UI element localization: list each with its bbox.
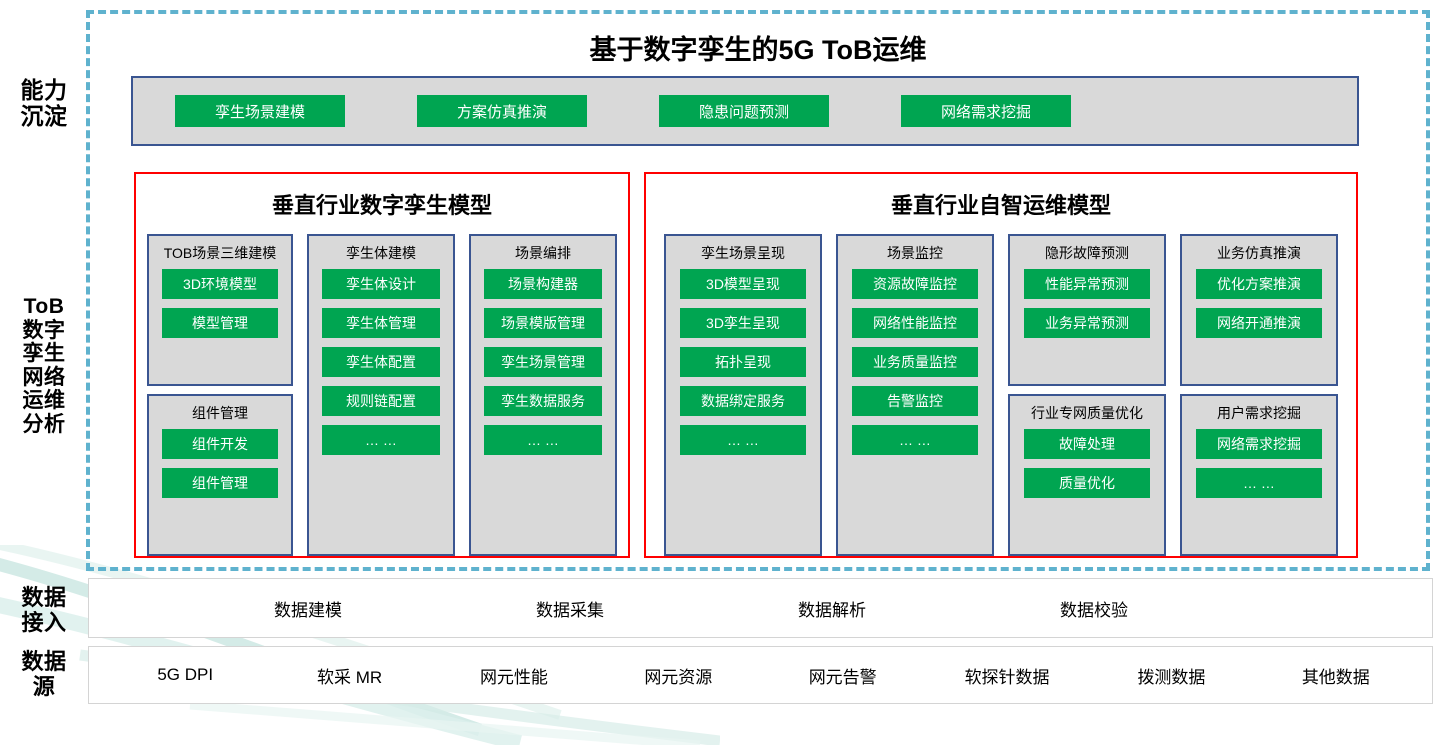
capability-item-chip[interactable]: 3D环境模型 [162,269,278,299]
capability-item-chip[interactable]: 性能异常预测 [1024,269,1150,299]
capability-chip[interactable]: 隐患问题预测 [659,95,829,127]
capability-panel: 业务仿真推演优化方案推演网络开通推演 [1180,234,1338,386]
rail-label-data-access-line-2: 接入 [6,611,82,636]
background-swoosh-decoration [0,545,720,745]
capability-item-chip[interactable]: 网络性能监控 [852,308,978,338]
capability-item-chip[interactable]: 孪生数据服务 [484,386,602,416]
capability-panel: 行业专网质量优化故障处理质量优化 [1008,394,1166,556]
capability-item-chip[interactable]: 场景模版管理 [484,308,602,338]
capability-panel: TOB场景三维建模3D环境模型模型管理 [147,234,293,386]
model-column: 孪生体建模孪生体设计孪生体管理孪生体配置规则链配置… … [307,234,455,556]
rail-label-tob-analysis: ToB 数字 孪生 网络 运维 分析 [4,295,84,436]
capability-item-chip[interactable]: 孪生体配置 [322,347,440,377]
capability-item-chip[interactable]: 场景构建器 [484,269,602,299]
capability-panel-title: 场景监控 [887,243,943,263]
data-source-cell: 5G DPI [103,665,267,685]
vertical-industry-digital-twin-model-frame: 垂直行业数字孪生模型 TOB场景三维建模3D环境模型模型管理组件管理组件开发组件… [134,172,630,558]
data-access-cell: 数据解析 [701,596,963,621]
data-source-cell: 其他数据 [1254,663,1418,688]
capability-panel-title: 场景编排 [515,243,571,263]
capability-panel-title: 孪生体建模 [346,243,416,263]
capability-panel-title: 隐形故障预测 [1045,243,1129,263]
capability-panel: 孪生场景呈现3D模型呈现3D孪生呈现拓扑呈现数据绑定服务… … [664,234,822,556]
rail-label-ability-line-2: 沉淀 [6,104,82,130]
rail-label-data-source-line-1: 数据 [6,650,82,675]
capability-item-chip[interactable]: 孪生场景管理 [484,347,602,377]
data-source-cell: 网元性能 [432,663,596,688]
right-frame-title: 垂直行业自智运维模型 [646,188,1356,220]
capability-item-chip[interactable]: 拓扑呈现 [680,347,806,377]
right-frame-columns: 孪生场景呈现3D模型呈现3D孪生呈现拓扑呈现数据绑定服务… …场景监控资源故障监… [646,234,1356,556]
data-access-row: 数据建模数据采集数据解析数据校验 [88,578,1433,638]
rail-label-tob-line-4: 网络 [4,366,84,390]
capability-item-chip[interactable]: 孪生体管理 [322,308,440,338]
capability-item-chip[interactable]: … … [484,425,602,455]
data-source-cell: 软探针数据 [925,663,1089,688]
capability-item-chip[interactable]: 故障处理 [1024,429,1150,459]
rail-label-data-access: 数据 接入 [6,586,82,635]
capability-item-chip[interactable]: 资源故障监控 [852,269,978,299]
capability-item-chip[interactable]: 网络需求挖掘 [1196,429,1322,459]
capability-item-chip[interactable]: 组件开发 [162,429,278,459]
data-access-cell: 数据校验 [963,596,1225,621]
capability-item-chip[interactable]: 模型管理 [162,308,278,338]
capability-chip-list: 孪生场景建模方案仿真推演隐患问题预测网络需求挖掘 [133,78,1357,144]
data-access-cell: 数据建模 [177,596,439,621]
capability-panel-title: TOB场景三维建模 [164,243,277,263]
capability-panel-title: 孪生场景呈现 [701,243,785,263]
capability-item-chip[interactable]: 告警监控 [852,386,978,416]
capability-chip[interactable]: 网络需求挖掘 [901,95,1071,127]
capability-item-chip[interactable]: … … [322,425,440,455]
model-column: 场景编排场景构建器场景模版管理孪生场景管理孪生数据服务… … [469,234,617,556]
rail-label-tob-line-5: 运维 [4,389,84,413]
model-column: 场景监控资源故障监控网络性能监控业务质量监控告警监控… … [836,234,994,556]
data-access-cell-list: 数据建模数据采集数据解析数据校验 [89,579,1432,637]
capability-item-chip[interactable]: 3D孪生呈现 [680,308,806,338]
capability-item-chip[interactable]: 组件管理 [162,468,278,498]
capability-item-chip[interactable]: 质量优化 [1024,468,1150,498]
rail-label-tob-line-1: ToB [4,295,84,319]
capability-item-chip[interactable]: 业务异常预测 [1024,308,1150,338]
capability-item-chip[interactable]: … … [680,425,806,455]
rail-label-data-source-line-2: 源 [6,675,82,700]
diagram-canvas: 能力 沉淀 ToB 数字 孪生 网络 运维 分析 数据 接入 数据 源 基于数字… [0,0,1438,734]
model-column: 业务仿真推演优化方案推演网络开通推演用户需求挖掘网络需求挖掘… … [1180,234,1338,556]
capability-item-chip[interactable]: 业务质量监控 [852,347,978,377]
capability-item-chip[interactable]: … … [1196,468,1322,498]
data-source-cell: 网元告警 [761,663,925,688]
capability-item-chip[interactable]: 孪生体设计 [322,269,440,299]
capability-panel-title: 行业专网质量优化 [1031,403,1143,423]
diagram-title: 基于数字孪生的5G ToB运维 [86,28,1430,67]
model-column: 隐形故障预测性能异常预测业务异常预测行业专网质量优化故障处理质量优化 [1008,234,1166,556]
capability-panel: 隐形故障预测性能异常预测业务异常预测 [1008,234,1166,386]
capability-panel-title: 用户需求挖掘 [1217,403,1301,423]
vertical-industry-autonomous-ops-model-frame: 垂直行业自智运维模型 孪生场景呈现3D模型呈现3D孪生呈现拓扑呈现数据绑定服务…… [644,172,1358,558]
model-column: 孪生场景呈现3D模型呈现3D孪生呈现拓扑呈现数据绑定服务… … [664,234,822,556]
data-source-cell: 网元资源 [596,663,760,688]
rail-label-tob-line-6: 分析 [4,413,84,437]
capability-item-chip[interactable]: 网络开通推演 [1196,308,1322,338]
rail-label-ability-precipitation: 能力 沉淀 [6,78,82,130]
capability-item-chip[interactable]: 优化方案推演 [1196,269,1322,299]
capability-panel: 场景编排场景构建器场景模版管理孪生场景管理孪生数据服务… … [469,234,617,556]
rail-label-tob-line-3: 孪生 [4,342,84,366]
capability-panel: 用户需求挖掘网络需求挖掘… … [1180,394,1338,556]
data-access-cell: 数据采集 [439,596,701,621]
capability-item-chip[interactable]: 规则链配置 [322,386,440,416]
data-source-cell: 拨测数据 [1089,663,1253,688]
left-frame-columns: TOB场景三维建模3D环境模型模型管理组件管理组件开发组件管理孪生体建模孪生体设… [136,234,628,556]
data-source-cell: 软采 MR [267,663,431,688]
capability-panel-title: 组件管理 [192,403,248,423]
capability-panel: 孪生体建模孪生体设计孪生体管理孪生体配置规则链配置… … [307,234,455,556]
capability-item-chip[interactable]: 3D模型呈现 [680,269,806,299]
capability-precipitation-bar: 孪生场景建模方案仿真推演隐患问题预测网络需求挖掘 [131,76,1359,146]
capability-chip[interactable]: 方案仿真推演 [417,95,587,127]
rail-label-tob-line-2: 数字 [4,319,84,343]
capability-item-chip[interactable]: 数据绑定服务 [680,386,806,416]
capability-chip[interactable]: 孪生场景建模 [175,95,345,127]
capability-panel: 组件管理组件开发组件管理 [147,394,293,556]
rail-label-data-access-line-1: 数据 [6,586,82,611]
capability-item-chip[interactable]: … … [852,425,978,455]
rail-label-data-source: 数据 源 [6,650,82,699]
rail-label-ability-line-1: 能力 [6,78,82,104]
model-column: TOB场景三维建模3D环境模型模型管理组件管理组件开发组件管理 [147,234,293,556]
capability-panel: 场景监控资源故障监控网络性能监控业务质量监控告警监控… … [836,234,994,556]
left-frame-title: 垂直行业数字孪生模型 [136,188,628,220]
capability-panel-title: 业务仿真推演 [1217,243,1301,263]
data-source-cell-list: 5G DPI软采 MR网元性能网元资源网元告警软探针数据拨测数据其他数据 [89,647,1432,703]
data-source-row: 5G DPI软采 MR网元性能网元资源网元告警软探针数据拨测数据其他数据 [88,646,1433,704]
